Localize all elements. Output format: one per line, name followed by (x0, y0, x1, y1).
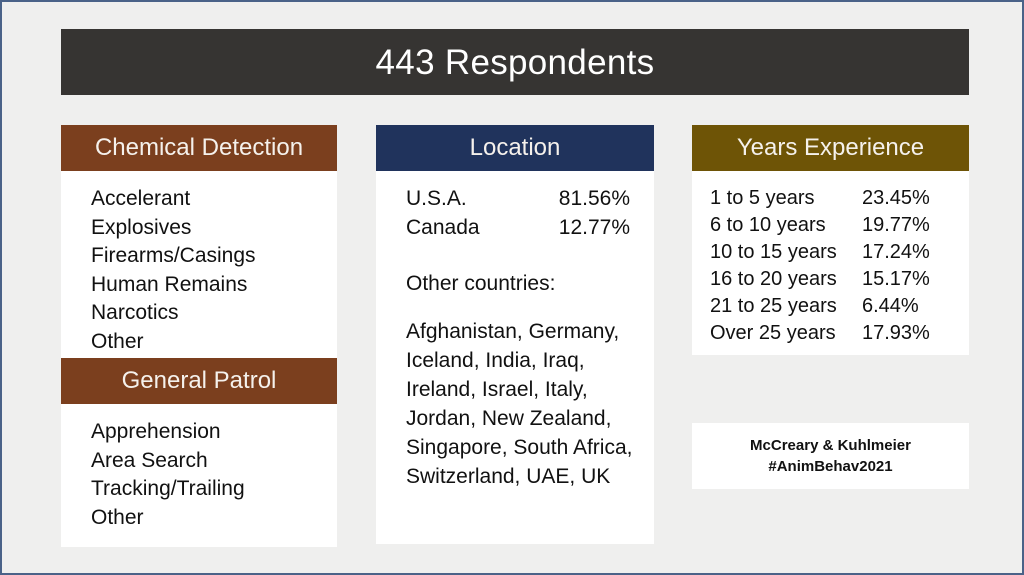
country-label: Canada (406, 214, 480, 243)
card-location: Location U.S.A. 81.56% Canada 12.77% Oth… (376, 125, 654, 544)
card-body-years-experience: 1 to 5 years 23.45% 6 to 10 years 19.77%… (692, 171, 969, 347)
list-item: Other (91, 328, 337, 357)
card-general-patrol: General Patrol Apprehension Area Search … (61, 358, 337, 547)
table-row: 21 to 25 years 6.44% (710, 293, 959, 320)
country-percent: 81.56% (559, 185, 630, 214)
years-experience-table: 1 to 5 years 23.45% 6 to 10 years 19.77%… (692, 185, 969, 347)
other-countries-label: Other countries: (376, 242, 654, 299)
table-row: U.S.A. 81.56% (406, 185, 630, 214)
list-item: Narcotics (91, 299, 337, 328)
experience-range: 16 to 20 years (710, 266, 862, 293)
chemical-detection-list: Accelerant Explosives Firearms/Casings H… (61, 185, 337, 356)
page-title: 443 Respondents (376, 45, 655, 80)
list-item: Apprehension (91, 418, 337, 447)
card-body-chemical-detection: Accelerant Explosives Firearms/Casings H… (61, 171, 337, 356)
location-stats-table: U.S.A. 81.56% Canada 12.77% (376, 185, 654, 242)
list-item: Accelerant (91, 185, 337, 214)
slide-title-banner: 443 Respondents (61, 29, 969, 95)
experience-percent: 15.17% (862, 266, 930, 293)
table-row: 6 to 10 years 19.77% (710, 212, 959, 239)
card-header-chemical-detection: Chemical Detection (61, 125, 337, 171)
list-item: Tracking/Trailing (91, 475, 337, 504)
country-label: U.S.A. (406, 185, 467, 214)
card-header-general-patrol: General Patrol (61, 358, 337, 404)
card-header-label: Chemical Detection (95, 136, 303, 160)
experience-percent: 17.93% (862, 320, 930, 347)
list-item: Area Search (91, 447, 337, 476)
experience-percent: 17.24% (862, 239, 930, 266)
experience-percent: 19.77% (862, 212, 930, 239)
citation-box: McCreary & Kuhlmeier #AnimBehav2021 (692, 423, 969, 489)
card-header-label: Years Experience (737, 136, 924, 160)
card-years-experience: Years Experience 1 to 5 years 23.45% 6 t… (692, 125, 969, 355)
experience-range: Over 25 years (710, 320, 862, 347)
country-percent: 12.77% (559, 214, 630, 243)
card-chemical-detection: Chemical Detection Accelerant Explosives… (61, 125, 337, 358)
card-body-location: U.S.A. 81.56% Canada 12.77% Other countr… (376, 171, 654, 491)
experience-percent: 6.44% (862, 293, 919, 320)
table-row: 1 to 5 years 23.45% (710, 185, 959, 212)
list-item: Explosives (91, 214, 337, 243)
list-item: Human Remains (91, 271, 337, 300)
experience-range: 21 to 25 years (710, 293, 862, 320)
table-row: Over 25 years 17.93% (710, 320, 959, 347)
card-body-general-patrol: Apprehension Area Search Tracking/Traili… (61, 404, 337, 532)
experience-range: 10 to 15 years (710, 239, 862, 266)
list-item: Firearms/Casings (91, 242, 337, 271)
card-header-years-experience: Years Experience (692, 125, 969, 171)
list-item: Other (91, 504, 337, 533)
citation-hashtag: #AnimBehav2021 (768, 456, 892, 477)
table-row: 16 to 20 years 15.17% (710, 266, 959, 293)
slide-canvas: 443 Respondents Chemical Detection Accel… (0, 0, 1024, 575)
card-header-label: General Patrol (122, 369, 277, 393)
experience-range: 6 to 10 years (710, 212, 862, 239)
card-header-label: Location (470, 136, 561, 160)
card-header-location: Location (376, 125, 654, 171)
table-row: Canada 12.77% (406, 214, 630, 243)
general-patrol-list: Apprehension Area Search Tracking/Traili… (61, 418, 337, 532)
citation-authors: McCreary & Kuhlmeier (750, 435, 911, 456)
table-row: 10 to 15 years 17.24% (710, 239, 959, 266)
experience-range: 1 to 5 years (710, 185, 862, 212)
experience-percent: 23.45% (862, 185, 930, 212)
other-countries-list: Afghanistan, Germany, Iceland, India, Ir… (376, 299, 654, 491)
